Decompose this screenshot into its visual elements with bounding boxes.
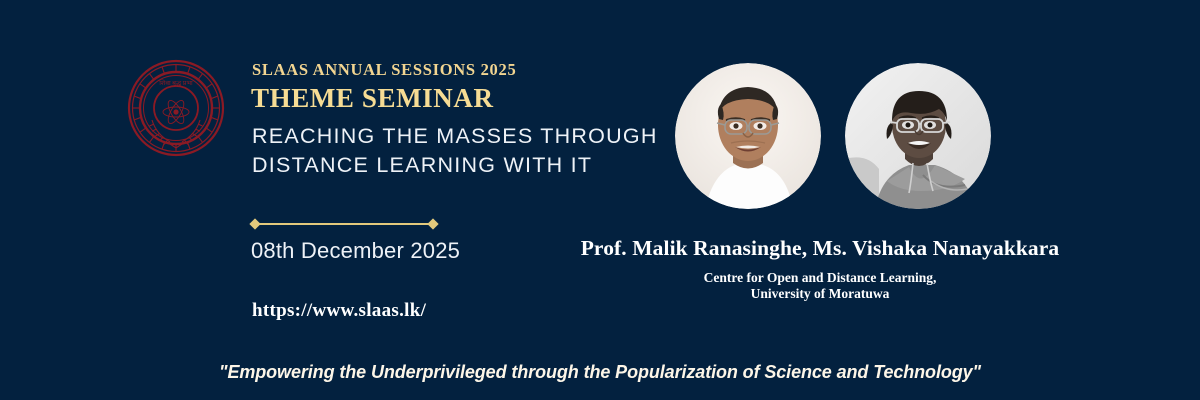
affiliation-line-2: University of Moratuwa <box>570 286 1070 302</box>
page-title: THEME SEMINAR <box>251 83 494 114</box>
headline-line-2: DISTANCE LEARNING WITH IT <box>252 151 658 180</box>
seminar-banner: शिवा बुद्ध प्रभा SLAAS ANNUAL SESSIONS 2… <box>0 0 1200 400</box>
speaker-affiliation: Centre for Open and Distance Learning, U… <box>570 270 1070 302</box>
affiliation-line-1: Centre for Open and Distance Learning, <box>570 270 1070 286</box>
speaker-names: Prof. Malik Ranasinghe, Ms. Vishaka Nana… <box>570 236 1070 261</box>
ornamental-divider <box>250 218 438 230</box>
event-date: 08th December 2025 <box>251 238 460 264</box>
diamond-right-icon <box>427 218 438 229</box>
eyebrow-text: SLAAS ANNUAL SESSIONS 2025 <box>252 60 516 80</box>
portrait-malik-ranasinghe <box>675 63 821 209</box>
footer-tagline: "Empowering the Underprivileged through … <box>0 362 1200 383</box>
seminar-headline: REACHING THE MASSES THROUGH DISTANCE LEA… <box>252 122 658 180</box>
divider-line <box>256 223 432 225</box>
headline-line-1: REACHING THE MASSES THROUGH <box>252 122 658 151</box>
event-url-link[interactable]: https://www.slaas.lk/ <box>252 300 426 322</box>
portrait-vishaka-nanayakkara <box>845 63 991 209</box>
slaas-emblem-logo: शिवा बुद्ध प्रभा <box>126 58 226 158</box>
svg-text:शिवा बुद्ध प्रभा: शिवा बुद्ध प्रभा <box>159 79 193 87</box>
